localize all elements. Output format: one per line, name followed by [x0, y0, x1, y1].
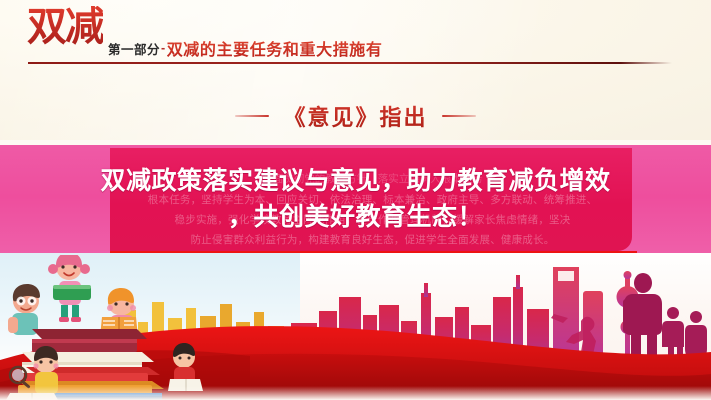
child-right-reading [168, 343, 203, 391]
book-stack-with-children-icon [2, 255, 217, 400]
child-left [8, 284, 40, 335]
banner-headline: 双减政策落实建议与意见，助力教育减负增效 ，共创美好教育生态！ [20, 163, 691, 235]
headline-line-2: ，共创美好教育生态！ [20, 199, 691, 235]
bottom-fade [0, 386, 711, 400]
quote-dash-right-icon [442, 115, 476, 117]
quote-title-text: 《意见》指出 [283, 100, 427, 132]
section-dash: - [160, 41, 167, 55]
section-prefix-label: 第一部分 [108, 39, 160, 58]
section-title-label: 双减的主要任务和重大措施有 [167, 36, 383, 60]
quote-dash-left-icon [235, 115, 269, 117]
section-heading: 第一部分 - 双减的主要任务和重大措施有 [108, 36, 383, 60]
poster-canvas: 双减 第一部分 - 双减的主要任务和重大措施有 《意见》指出 全面贯彻党的教育方… [0, 0, 711, 400]
header-divider-rule [28, 62, 672, 64]
bottom-illustration [0, 253, 711, 400]
child-standing [48, 255, 91, 322]
brand-logo: 双减 [27, 6, 103, 48]
headline-line-1: 双减政策落实建议与意见，助力教育减负增效 [100, 166, 610, 195]
quote-title-row: 《意见》指出 [0, 98, 711, 134]
